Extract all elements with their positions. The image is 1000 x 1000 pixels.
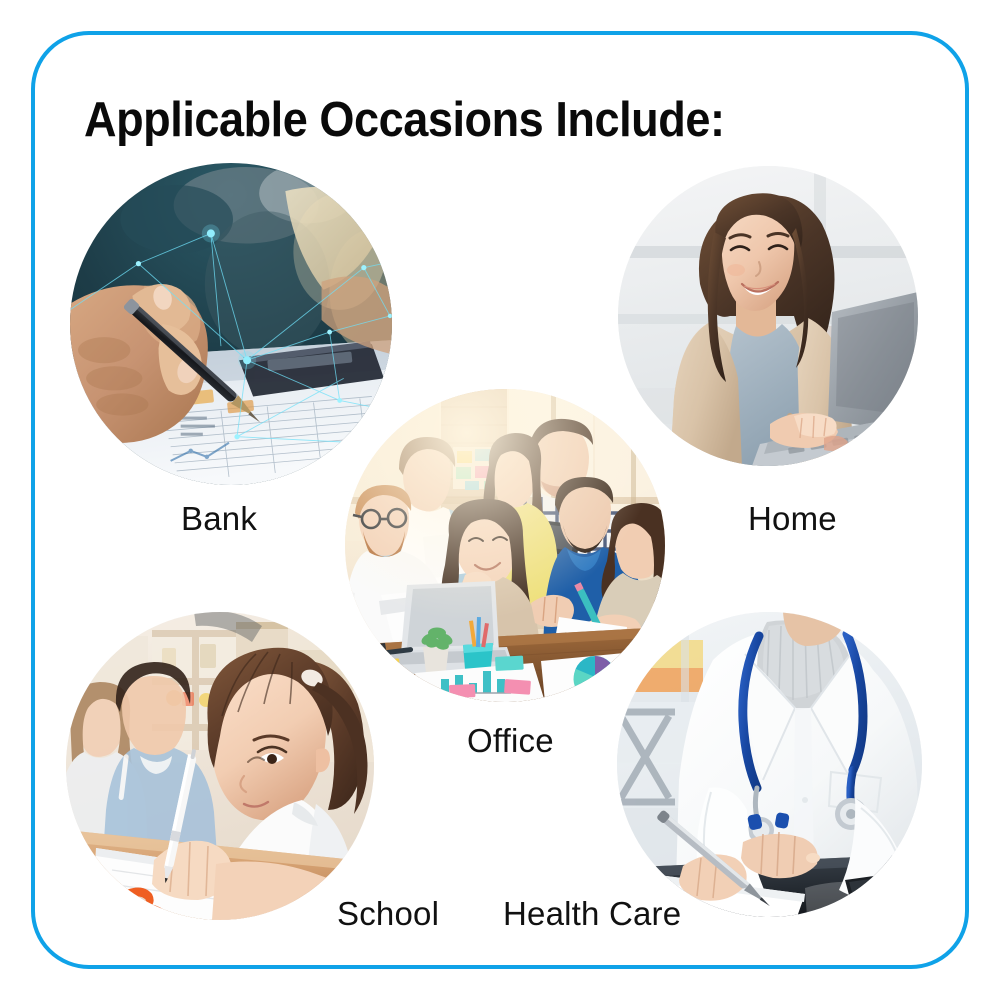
office-illustration [345, 389, 665, 702]
occasion-label-office: Office [467, 722, 554, 760]
poster-canvas: Applicable Occasions Include: [0, 0, 1000, 1000]
page-title: Applicable Occasions Include: [84, 92, 725, 148]
health-photo-circle [617, 612, 922, 917]
bank-illustration [70, 163, 392, 485]
home-illustration [618, 166, 918, 466]
bank-photo-circle [70, 163, 392, 485]
office-photo-circle [345, 389, 665, 702]
home-photo-circle [618, 166, 918, 466]
occasion-label-bank: Bank [181, 500, 257, 538]
occasion-label-health: Health Care [503, 895, 681, 933]
health-illustration [617, 612, 922, 917]
occasion-label-home: Home [748, 500, 837, 538]
occasion-label-school: School [337, 895, 439, 933]
school-photo-circle [66, 612, 374, 920]
school-illustration [66, 612, 374, 920]
